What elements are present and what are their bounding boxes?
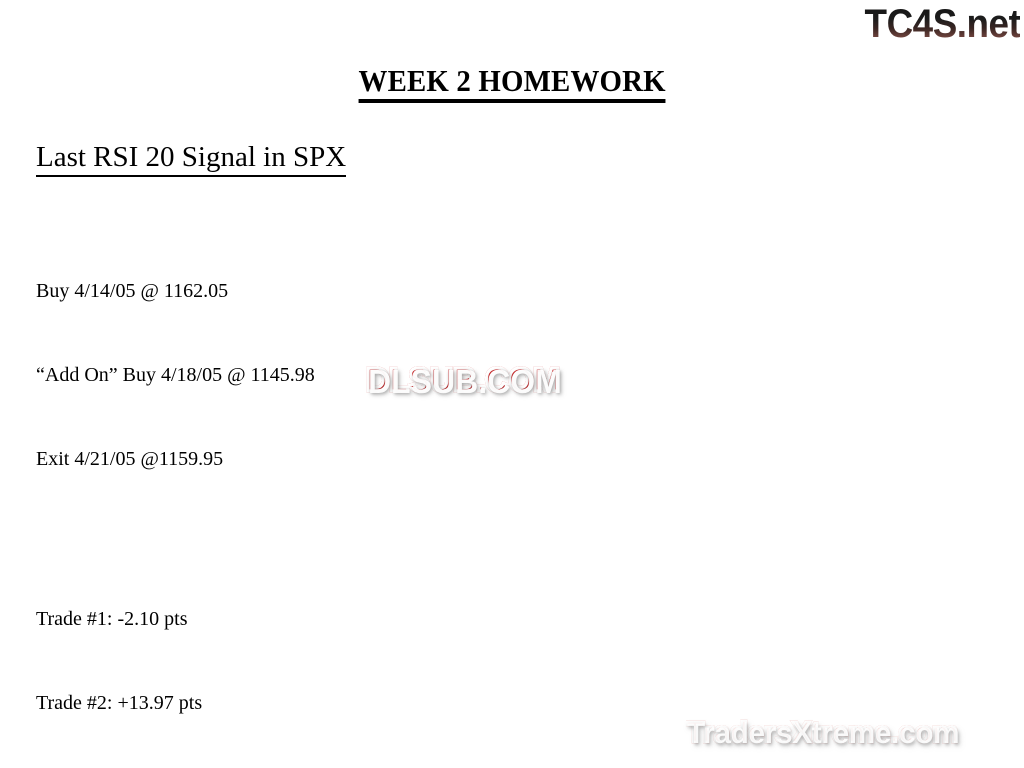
spacer <box>36 177 736 221</box>
trade-exit-line: Exit 4/21/05 @1159.95 <box>36 445 736 473</box>
spacer <box>36 529 736 549</box>
trade-entry-line: Buy 4/14/05 @ 1162.05 <box>36 277 736 305</box>
trade-result-1: Trade #1: -2.10 pts <box>36 605 736 633</box>
tc4s-logo: TC4S.net <box>864 2 1020 46</box>
slide-content: Last RSI 20 Signal in SPX Buy 4/14/05 @ … <box>36 140 736 768</box>
slide-canvas: TC4S.net WEEK 2 HOMEWORK Last RSI 20 Sig… <box>0 0 1024 768</box>
tradersxtreme-logo: TradersXtreme.com <box>686 714 958 752</box>
dlsub-watermark: DLSUB.COM <box>366 360 560 400</box>
section-1-results: Trade #1: -2.10 pts Trade #2: +13.97 pts <box>36 549 736 768</box>
tradersxtreme-logo-text: TradersXtreme.com <box>686 716 958 749</box>
section-1: Last RSI 20 Signal in SPX <box>36 140 736 177</box>
page-title-container: WEEK 2 HOMEWORK <box>0 64 1024 103</box>
section-heading-rsi-20: Last RSI 20 Signal in SPX <box>36 140 346 177</box>
dlsub-watermark-text: DLSUB.COM <box>366 361 560 398</box>
page-title: WEEK 2 HOMEWORK <box>358 64 665 103</box>
trade-result-2: Trade #2: +13.97 pts <box>36 689 736 717</box>
